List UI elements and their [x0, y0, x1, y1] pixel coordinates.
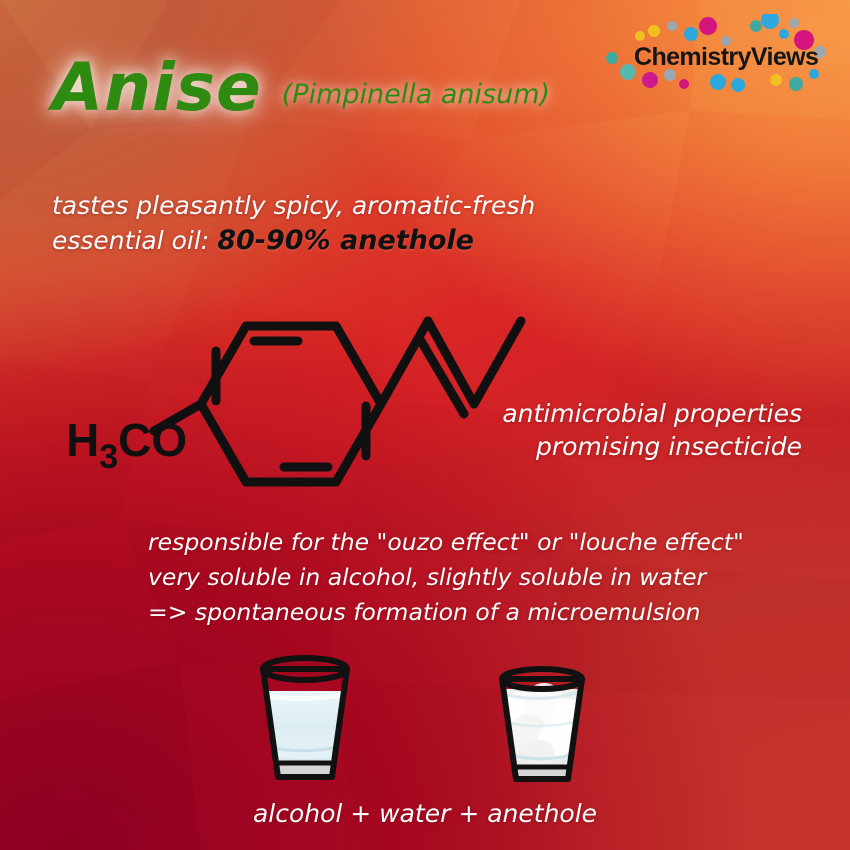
logo-dot-0 [606, 52, 618, 64]
properties-text-block: antimicrobial properties promising insec… [502, 398, 802, 463]
methoxy-label-3: 3 [99, 438, 118, 476]
logo-dot-20 [789, 77, 803, 91]
chemistryviews-logo[interactable]: ChemistryViews [598, 14, 840, 96]
glass-milky [484, 659, 600, 793]
anethole-structure-diagram: H3CO [66, 296, 486, 476]
benzene-ring [201, 326, 381, 482]
logo-dot-10 [679, 79, 689, 89]
intro-line-2: essential oil: 80-90% anethole [52, 223, 535, 258]
intro-text-block: tastes pleasantly spicy, aromatic-fresh … [52, 190, 535, 258]
methoxy-label-co: CO [118, 414, 187, 466]
logo-dot-12 [731, 78, 745, 92]
chain-bond-1 [381, 321, 428, 404]
logo-dot-16 [789, 18, 799, 28]
ouzo-line-2: very soluble in alcohol, slightly solubl… [148, 560, 744, 595]
logo-dot-2 [635, 31, 645, 41]
logo-dot-15 [779, 29, 789, 39]
logo-dot-6 [699, 17, 717, 35]
ouzo-line-1: responsible for the "ouzo effect" or "lo… [148, 525, 744, 560]
illustration-caption: alcohol + water + anethole [0, 798, 850, 831]
logo-dot-4 [667, 21, 677, 31]
methoxy-label-h: H [66, 414, 99, 466]
logo-dot-5 [684, 27, 698, 41]
page-title: Anise [52, 56, 262, 119]
anethole-percentage: 80-90% anethole [217, 225, 474, 256]
logo-dot-8 [642, 72, 658, 88]
methoxy-label: H3CO [66, 414, 187, 476]
logo-dot-14 [761, 14, 779, 29]
ouzo-effect-illustration: -> [232, 643, 622, 791]
intro-line-2-prefix: essential oil: [52, 226, 217, 255]
property-line-2: promising insecticide [502, 431, 802, 464]
logo-dot-3 [648, 25, 660, 37]
property-line-1: antimicrobial properties [502, 398, 802, 431]
headline-row: Anise (Pimpinella anisum) [52, 56, 550, 119]
logo-dot-19 [770, 74, 782, 86]
glass-clear [242, 647, 368, 791]
logo-dot-13 [750, 20, 762, 32]
ouzo-line-3: => spontaneous formation of a microemuls… [148, 595, 744, 630]
logo-wordmark: ChemistryViews [634, 43, 818, 72]
infographic-poster: ChemistryViews Anise (Pimpinella anisum)… [0, 0, 850, 850]
ouzo-effect-text-block: responsible for the "ouzo effect" or "lo… [148, 525, 744, 629]
binomial-name: (Pimpinella anisum) [282, 79, 550, 119]
intro-line-1: tastes pleasantly spicy, aromatic-fresh [52, 190, 535, 223]
logo-dot-11 [710, 74, 726, 90]
